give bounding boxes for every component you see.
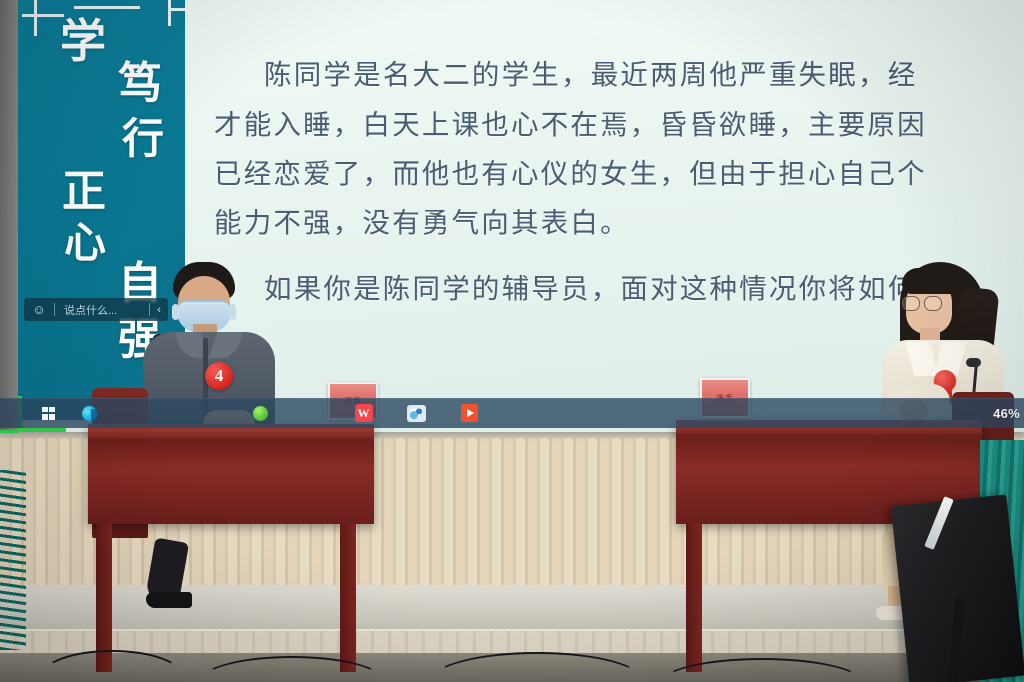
left-cable-bundle (0, 470, 26, 650)
glasses-icon (902, 296, 944, 309)
smiley-icon[interactable]: ☺ (24, 298, 54, 321)
video-button[interactable] (449, 398, 490, 428)
chat-input[interactable]: 说点什么... (55, 302, 149, 318)
start-button[interactable] (28, 398, 69, 428)
slide-line-3: 已经恋爱了，而他也有心仪的女生，但由于担心自己个 (214, 151, 927, 191)
slide-line-4: 能力不强，没有勇气向其表白。 (214, 200, 630, 240)
battery-percent: 46% (993, 406, 1024, 421)
green-tape (0, 430, 18, 433)
desk-left-leg-2 (340, 524, 356, 672)
edge-browser-icon (82, 406, 97, 421)
right-speaker-fringe (902, 268, 958, 294)
right-microphone-head (966, 358, 981, 367)
edge-button[interactable] (69, 398, 110, 428)
slide-line-5: 如果你是陈同学的辅导员，面对这种情况你将如何应 (264, 266, 947, 306)
seagull-button[interactable] (396, 398, 437, 428)
banner-decor-hline-1 (22, 14, 64, 17)
motto-char-du: 笃 (118, 62, 162, 106)
green-circle-app-icon (253, 406, 268, 421)
motto-char-xin: 心 (64, 222, 106, 264)
video-player-icon (461, 404, 478, 422)
motto-char-xing: 行 (122, 118, 164, 160)
slide-line-1: 陈同学是名大二的学生，最近两周他严重失眠，经 (264, 52, 917, 92)
screen-left-edge (0, 0, 20, 432)
banner-decor-vline-1 (34, 0, 37, 36)
livestream-chat-bar[interactable]: ☺ 说点什么... ‹ (24, 298, 168, 321)
banner-decor-vline-2 (168, 0, 171, 26)
windows-logo-icon (42, 407, 55, 420)
desk-left (88, 424, 374, 524)
left-speaker-shoe (146, 592, 192, 608)
banner-decor-hline-2 (74, 6, 140, 9)
slide-line-2: 才能入睡，白天上课也心不在焉，昏昏欲睡，主要原因 (214, 102, 927, 142)
green-marker-horizontal (18, 428, 66, 432)
wps-office-icon: W (355, 404, 373, 422)
banner-decor-hline-3 (168, 8, 185, 11)
desk-right-leg-1 (686, 524, 702, 672)
contestant-number-badge: 4 (205, 362, 233, 390)
chevron-left-icon[interactable]: ‹ (150, 298, 168, 321)
green-app-button[interactable] (240, 398, 281, 428)
windows-taskbar[interactable]: W 46% (0, 398, 1024, 428)
wps-button[interactable]: W (343, 398, 384, 428)
motto-char-zheng: 正 (62, 170, 106, 214)
motto-char-xue: 学 (60, 18, 106, 64)
seagull-app-icon (407, 405, 426, 422)
screenshot-root: 学 笃 行 正 心 自 强 陈同学是名大二的学生，最近两周他严重失眠，经 才能入… (0, 0, 1024, 682)
